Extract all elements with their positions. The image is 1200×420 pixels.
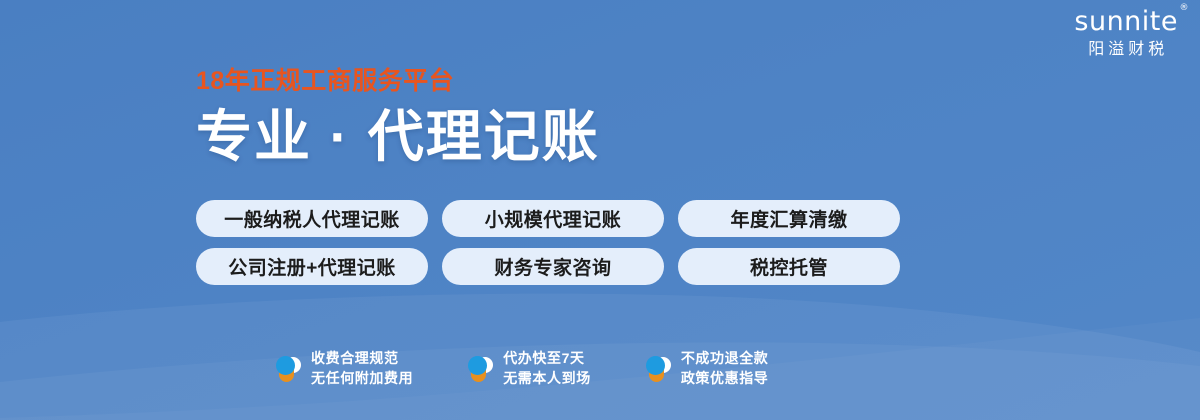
feature-line-1: 代办快至7天 (503, 348, 591, 368)
feature-item-guarantee: 不成功退全款 政策优惠指导 (646, 348, 769, 389)
registered-trademark-icon: ® (1180, 4, 1190, 13)
feature-line-1: 收费合理规范 (311, 348, 413, 368)
service-tag-company-registration[interactable]: 公司注册+代理记账 (196, 248, 428, 285)
service-tag-list: 一般纳税人代理记账 小规模代理记账 年度汇算清缴 公司注册+代理记账 财务专家咨… (196, 200, 900, 296)
brand-wordmark-text: sunnite (1074, 6, 1178, 37)
hero-copy: 18年正规工商服务平台 专业 · 代理记账 (196, 68, 600, 168)
brand-chinese-name: 阳溢财税 (1074, 42, 1178, 58)
service-tag-annual-settlement[interactable]: 年度汇算清缴 (678, 200, 900, 237)
circles-badge-icon (276, 353, 302, 383)
circles-badge-icon (646, 353, 672, 383)
feature-item-pricing: 收费合理规范 无任何附加费用 (276, 348, 413, 389)
feature-item-speed: 代办快至7天 无需本人到场 (468, 348, 591, 389)
service-tag-general-taxpayer[interactable]: 一般纳税人代理记账 (196, 200, 428, 237)
hero-eyebrow: 18年正规工商服务平台 (196, 68, 600, 96)
promo-banner: sunnite ® 阳溢财税 18年正规工商服务平台 专业 · 代理记账 一般纳… (0, 0, 1200, 420)
brand-wordmark: sunnite ® (1074, 8, 1178, 35)
feature-line-2: 无任何附加费用 (311, 368, 413, 388)
brand-logo: sunnite ® 阳溢财税 (1074, 8, 1178, 58)
service-tag-row: 公司注册+代理记账 财务专家咨询 税控托管 (196, 248, 900, 285)
feature-line-2: 无需本人到场 (503, 368, 591, 388)
feature-text: 不成功退全款 政策优惠指导 (681, 348, 769, 389)
feature-line-1: 不成功退全款 (681, 348, 769, 368)
service-tag-row: 一般纳税人代理记账 小规模代理记账 年度汇算清缴 (196, 200, 900, 237)
service-tag-tax-control-hosting[interactable]: 税控托管 (678, 248, 900, 285)
feature-line-2: 政策优惠指导 (681, 368, 769, 388)
feature-text: 代办快至7天 无需本人到场 (503, 348, 591, 389)
service-tag-expert-consulting[interactable]: 财务专家咨询 (442, 248, 664, 285)
circles-badge-icon (468, 353, 494, 383)
service-tag-small-scale[interactable]: 小规模代理记账 (442, 200, 664, 237)
feature-strip: 收费合理规范 无任何附加费用 代办快至7天 无需本人到场 (276, 348, 768, 389)
hero-headline: 专业 · 代理记账 (196, 106, 600, 169)
feature-text: 收费合理规范 无任何附加费用 (311, 348, 413, 389)
